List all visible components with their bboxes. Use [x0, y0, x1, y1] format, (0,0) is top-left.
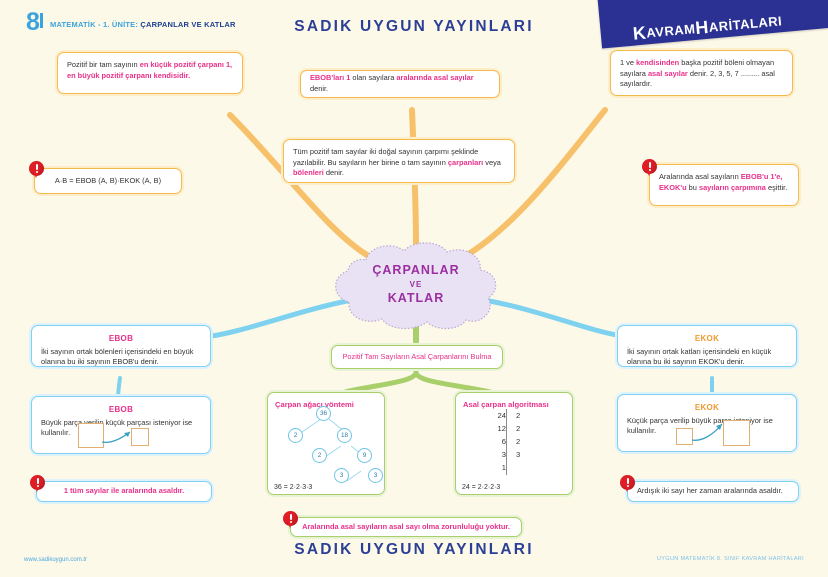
factors-text-2: çarpanları	[448, 158, 483, 167]
exclamation-icon-note-coprime-not-prime	[283, 509, 298, 528]
box-product-formula: A·B = EBOB (A, B)·EKOK (A, B)	[34, 168, 182, 194]
factors-text-5: denir.	[324, 168, 344, 177]
factors-text-4: bölenleri	[293, 168, 324, 177]
box-ebob-definition: EBOB İki sayının ortak bölenleri içerisi…	[31, 325, 211, 367]
box-smallest-largest-factor: Pozitif bir tam sayının en küçük pozitif…	[57, 52, 243, 94]
algorithm-row: 33	[480, 448, 538, 461]
slf-text-1: Pozitif bir tam sayının	[67, 60, 140, 69]
central-line-1: ÇARPANLAR	[372, 263, 459, 279]
ebob-usage-title: EBOB	[41, 404, 201, 416]
ekok-definition-title: EKOK	[627, 333, 787, 345]
coprime-text-3: aralarında asal sayılar	[396, 73, 473, 82]
cp-text-1: Aralarında asal sayıların	[659, 172, 741, 181]
tree-node-r3: 3	[368, 468, 383, 483]
footer-url: www.sadikuygun.com.tr	[24, 557, 87, 563]
exclamation-icon-note-one	[30, 473, 45, 492]
central-topic-cloud: ÇARPANLAR VE KATLAR	[321, 238, 511, 332]
box-coprime-property: Aralarında asal sayıların EBOB'u 1'e, EK…	[649, 164, 799, 206]
central-line-2: VE	[410, 280, 423, 290]
box-prime-factorization: Pozitif Tam Sayıların Asal Çarpanlarını …	[331, 345, 503, 369]
factors-text-3: veya	[483, 158, 501, 167]
tree-node-l1: 2	[288, 428, 303, 443]
coprime-text-4: denir.	[310, 84, 328, 93]
factor-tree-result: 36 = 2·2·3·3	[274, 484, 312, 491]
cp-text-3: bu	[687, 183, 699, 192]
box-note-one-coprime: 1 tüm sayılar ile aralarında asaldır.	[36, 481, 212, 502]
note-one-coprime-text: 1 tüm sayılar ile aralarında asaldır.	[64, 486, 184, 497]
ebob-definition-title: EBOB	[41, 333, 201, 345]
box-note-coprime-not-prime: Aralarında asal sayıların asal sayı olma…	[290, 517, 522, 537]
prime-algorithm-title: Asal çarpan algoritması	[463, 400, 549, 409]
algorithm-row: 242	[480, 409, 538, 422]
ekok-arrow-icon	[690, 418, 730, 446]
ekok-definition-text: İki sayının ortak katları içerisindeki e…	[627, 347, 771, 367]
algorithm-row: 62	[480, 435, 538, 448]
banner-word-avram: AVRAM	[646, 21, 696, 40]
algorithm-row: 122	[480, 422, 538, 435]
footer-note: UYGUN MATEMATİK 8. SINIF KAVRAM HARİTALA…	[657, 556, 804, 562]
exclamation-icon-formula	[29, 159, 44, 178]
exclamation-icon-coprime-property	[642, 157, 657, 176]
coprime-text-2: olan sayılara	[350, 73, 396, 82]
tree-node-r1: 18	[337, 428, 352, 443]
coprime-text-1: EBOB'ları 1	[310, 73, 350, 82]
ebob-definition-text: İki sayının ortak bölenleri içerisindeki…	[41, 347, 193, 367]
algorithm-rows: 242 122 62 33 1	[480, 409, 538, 474]
note-coprime-not-prime-text: Aralarında asal sayıların asal sayı olma…	[302, 522, 510, 533]
tree-node-root: 36	[316, 406, 331, 421]
prime-text-1: 1 ve	[620, 58, 636, 67]
central-topic-label: ÇARPANLAR VE KATLAR	[321, 238, 511, 332]
cp-text-5: eşittir.	[766, 183, 787, 192]
exclamation-icon-note-consecutive	[620, 473, 635, 492]
central-line-3: KATLAR	[388, 291, 444, 307]
box-ekok-definition: EKOK İki sayının ortak katları içerisind…	[617, 325, 797, 367]
tree-node-r2: 9	[357, 448, 372, 463]
box-prime-definition: 1 ve kendisinden başka pozitif böleni ol…	[610, 50, 793, 96]
prime-text-4: asal sayılar	[648, 69, 688, 78]
cp-text-4: sayıların çarpımına	[699, 183, 766, 192]
concept-map-page: 8 MATEMATİK - 1. ÜNİTE: ÇARPANLAR VE KAT…	[0, 0, 828, 577]
prime-algorithm-result: 24 = 2·2·2·3	[462, 484, 500, 491]
box-note-consecutive: Ardışık iki sayı her zaman aralarında as…	[627, 481, 799, 502]
box-coprime-definition: EBOB'ları 1 olan sayılara aralarında asa…	[300, 70, 500, 98]
prime-text-2: kendisinden	[636, 58, 679, 67]
tree-node-l2: 2	[312, 448, 327, 463]
algorithm-row: 1	[480, 461, 538, 474]
ebob-arrow-icon	[100, 424, 138, 448]
note-consecutive-text: Ardışık iki sayı her zaman aralarında as…	[637, 486, 783, 497]
prime-factorization-text: Pozitif Tam Sayıların Asal Çarpanlarını …	[343, 352, 492, 363]
banner-word-aritalari: ARİTALARI	[708, 13, 783, 35]
box-factors-definition: Tüm pozitif tam sayılar iki doğal sayını…	[283, 139, 515, 183]
product-formula-text: A·B = EBOB (A, B)·EKOK (A, B)	[55, 176, 161, 187]
ekok-usage-title: EKOK	[627, 402, 787, 414]
tree-node-l3: 3	[334, 468, 349, 483]
